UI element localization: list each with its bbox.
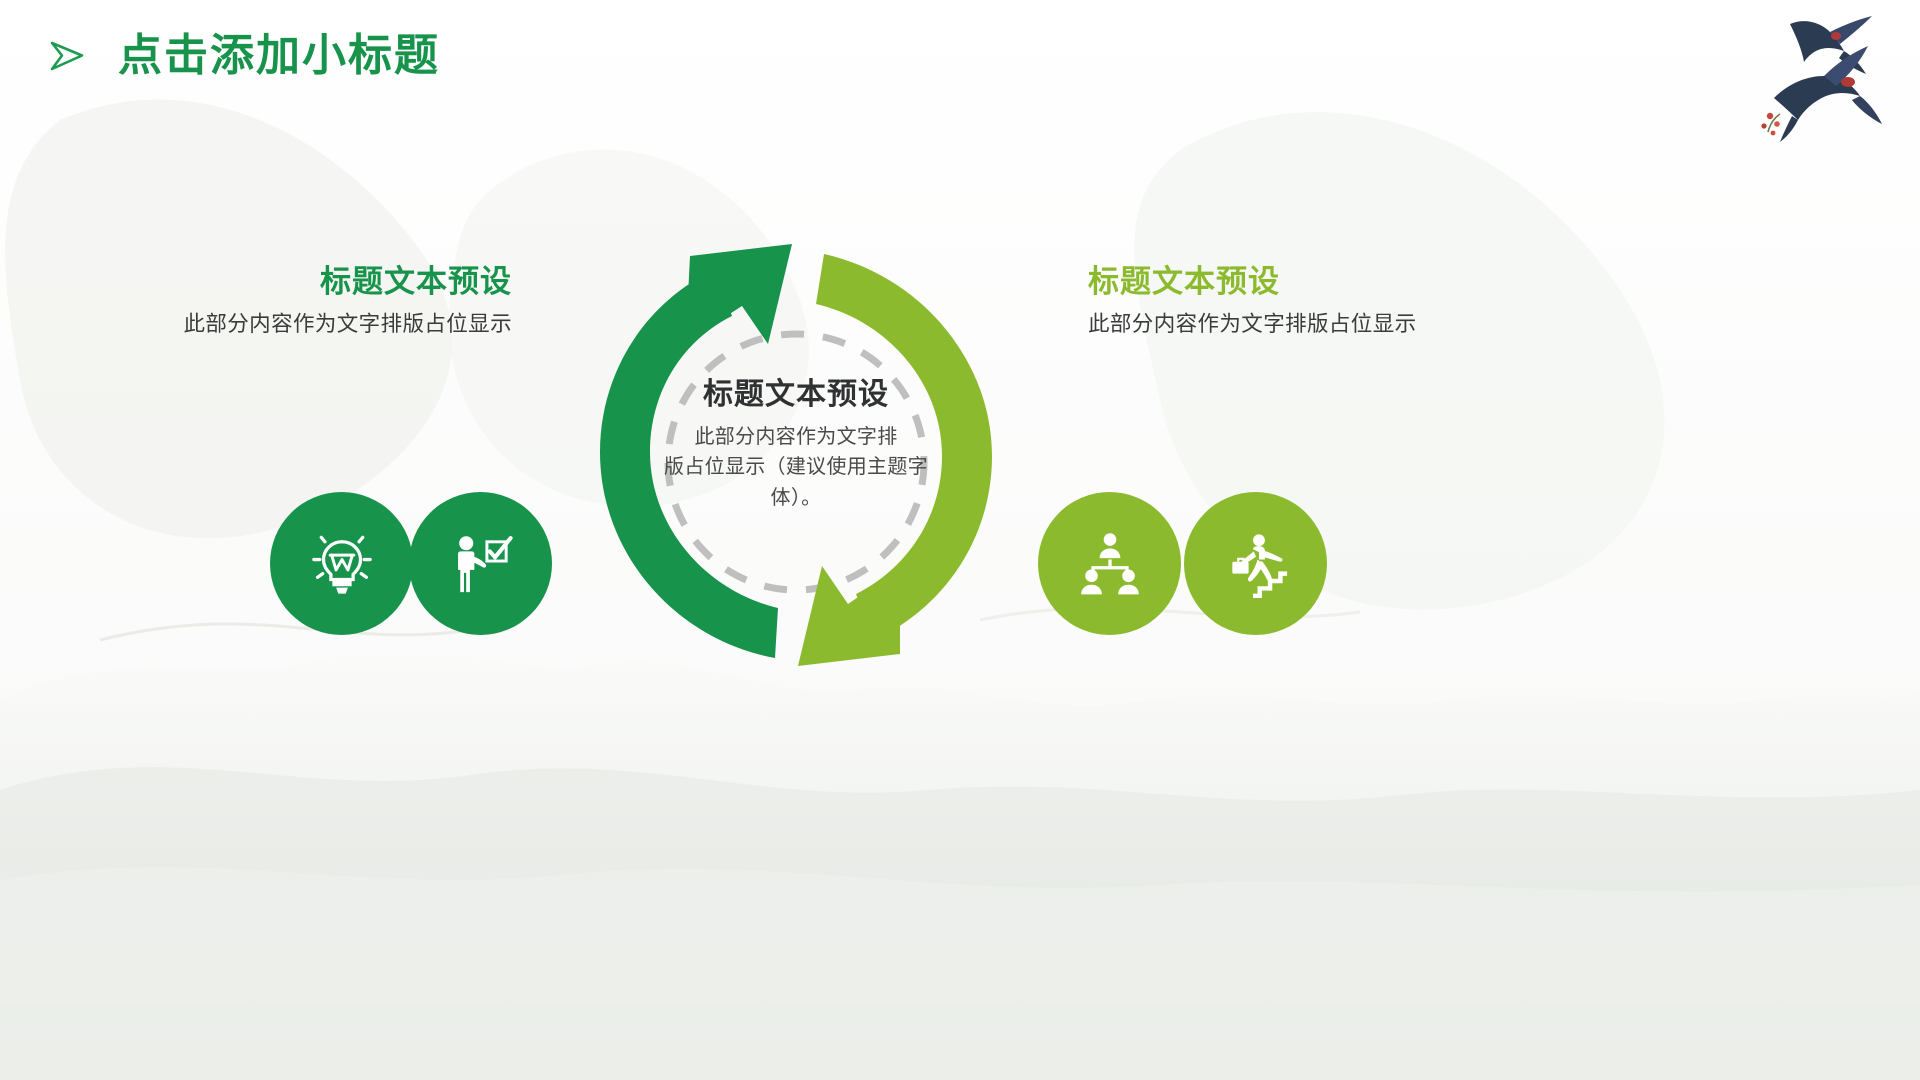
left-text-block: 标题文本预设 此部分内容作为文字排版占位显示 (130, 264, 512, 340)
swallow-birds-icon (1744, 6, 1894, 156)
stairs-climber-icon (1219, 527, 1293, 601)
icon-circle-stairs[interactable] (1184, 492, 1327, 635)
left-heading: 标题文本预设 (130, 264, 512, 301)
icon-circle-team[interactable] (1038, 492, 1181, 635)
icon-circle-lightbulb[interactable] (270, 492, 413, 635)
page-title: 点击添加小标题 (118, 34, 440, 78)
cycle-body-line-2: 版占位显示（建议使用主题字体）。 (650, 452, 942, 513)
right-text-block: 标题文本预设 此部分内容作为文字排版占位显示 (1088, 264, 1418, 340)
left-body-text: 此部分内容作为文字排版占位显示 (130, 309, 512, 340)
cycle-body-text: 此部分内容作为文字排 版占位显示（建议使用主题字体）。 (650, 422, 942, 513)
lightbulb-idea-icon (305, 527, 379, 601)
right-body-text: 此部分内容作为文字排版占位显示 (1088, 309, 1418, 340)
presenter-checklist-icon (444, 527, 518, 601)
right-heading: 标题文本预设 (1088, 264, 1418, 301)
page-title-row: 点击添加小标题 (48, 34, 440, 78)
cycle-body-line-1: 此部分内容作为文字排 (650, 422, 942, 452)
cycle-heading: 标题文本预设 (650, 378, 942, 411)
icon-circle-presenter[interactable] (409, 492, 552, 635)
arrow-bullet-icon (48, 36, 88, 76)
cycle-center-text: 标题文本预设 此部分内容作为文字排 版占位显示（建议使用主题字体）。 (650, 378, 942, 513)
org-chart-team-icon (1073, 527, 1147, 601)
